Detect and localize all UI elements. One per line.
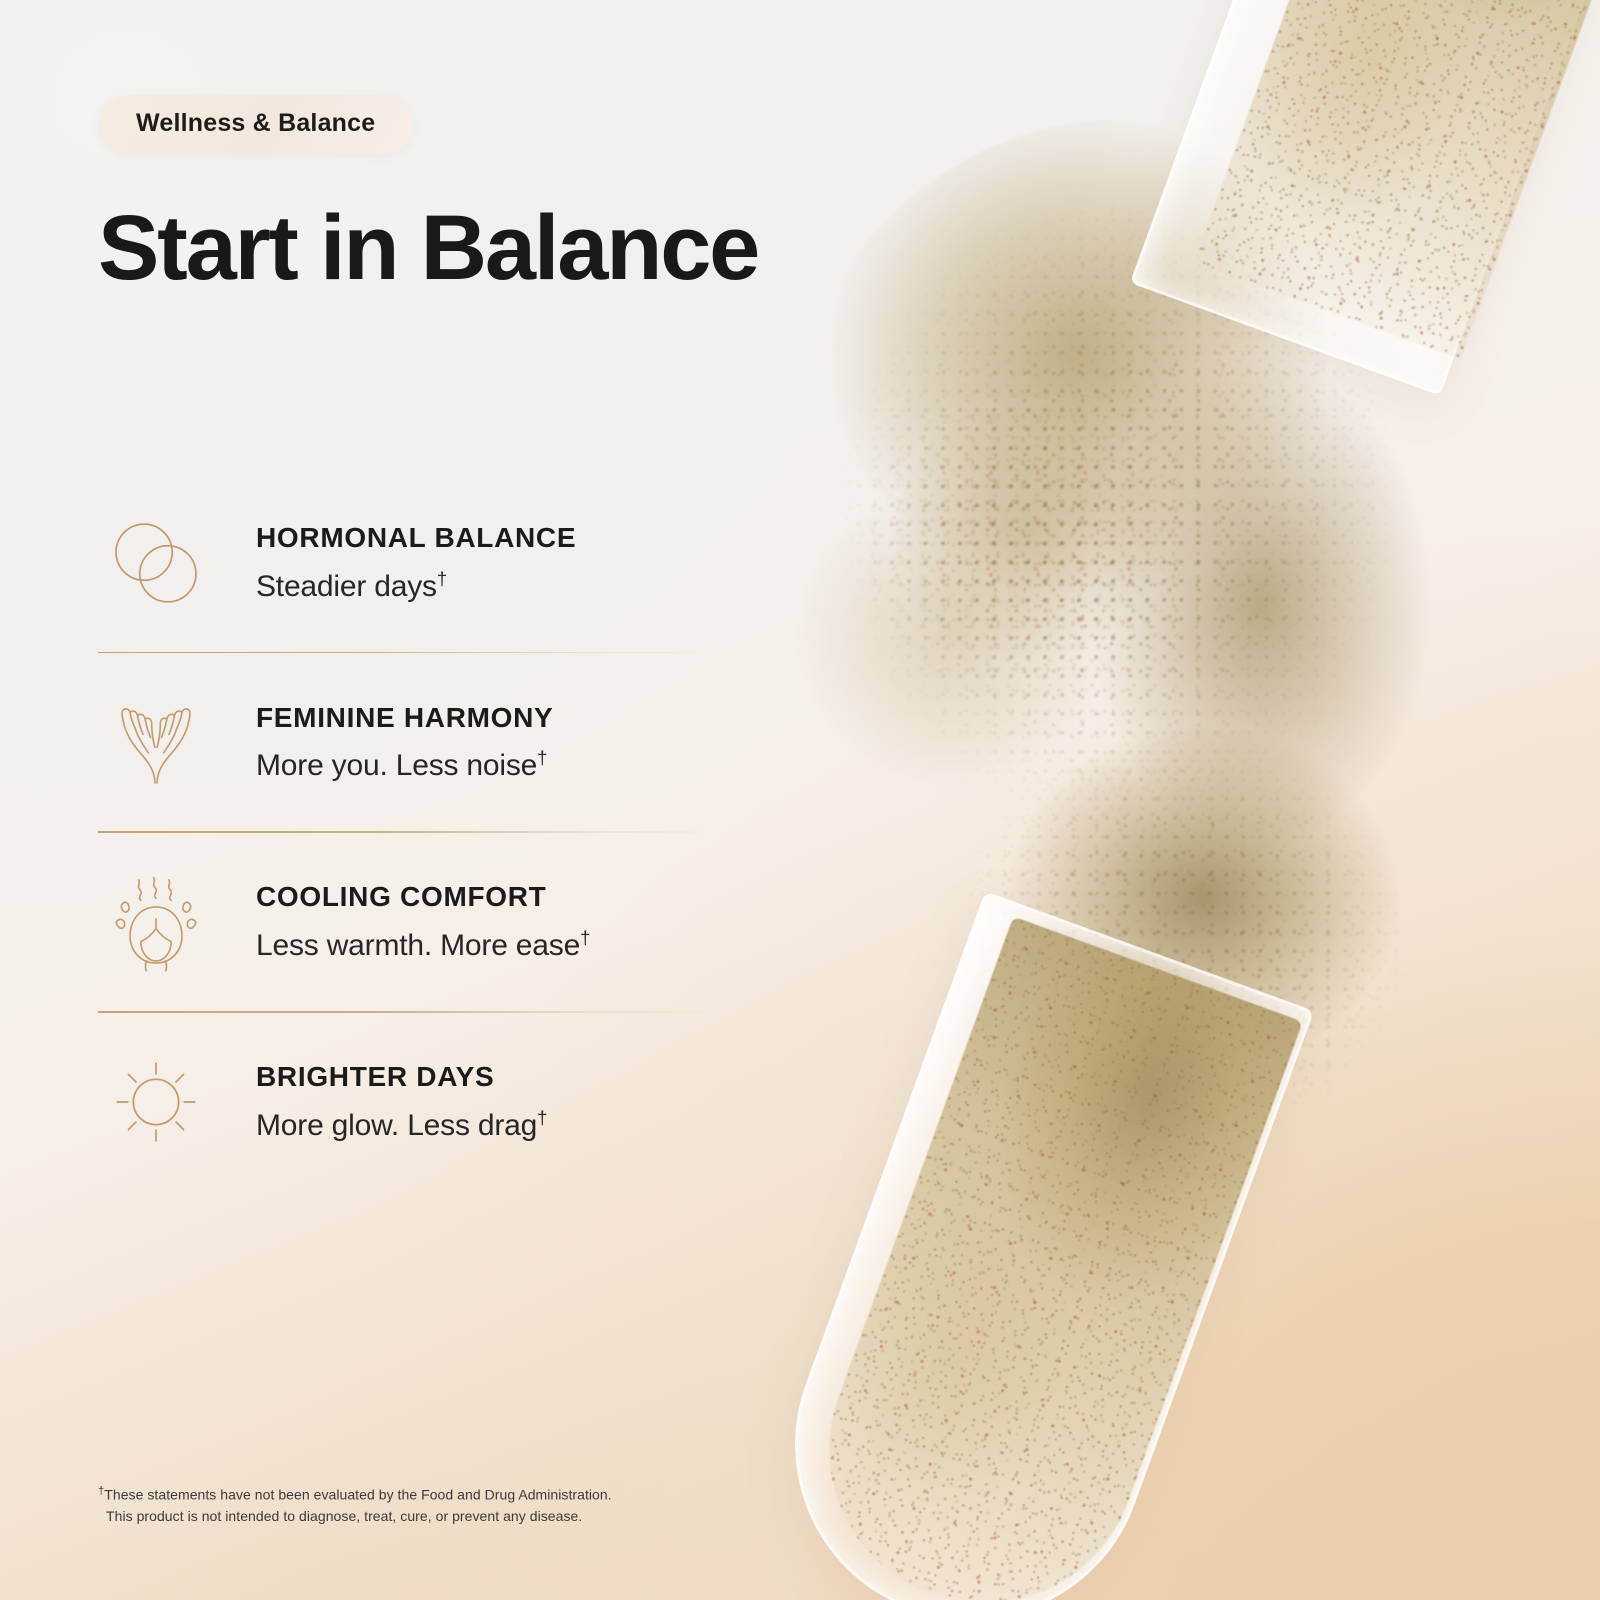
capsule-top-half bbox=[1130, 0, 1600, 396]
dagger-symbol: † bbox=[580, 927, 590, 948]
feature-subtitle-text: More glow. Less drag bbox=[256, 1109, 537, 1142]
feature-item-hormonal-balance: HORMONAL BALANCE Steadier days† bbox=[98, 474, 718, 652]
cupped-hands-icon bbox=[98, 684, 214, 800]
sun-icon bbox=[98, 1044, 214, 1160]
feature-text: FEMININE HARMONY More you. Less noise† bbox=[256, 701, 553, 785]
powder-grain-texture bbox=[820, 330, 1240, 750]
feature-subtitle: Less warmth. More ease† bbox=[256, 927, 590, 964]
feature-subtitle-text: Less warmth. More ease bbox=[256, 929, 580, 962]
capsule-powder-fill bbox=[1194, 0, 1600, 359]
feature-list: HORMONAL BALANCE Steadier days† bbox=[98, 474, 718, 1191]
feature-title: FEMININE HARMONY bbox=[256, 703, 553, 734]
promo-canvas: Wellness & Balance Start in Balance HORM… bbox=[0, 0, 1600, 1600]
capsule-powder-fill bbox=[786, 916, 1303, 1600]
feature-text: COOLING COMFORT Less warmth. More ease† bbox=[256, 880, 590, 964]
feature-title: BRIGHTER DAYS bbox=[256, 1062, 547, 1093]
feature-text: HORMONAL BALANCE Steadier days† bbox=[256, 521, 576, 605]
feature-subtitle-text: More you. Less noise bbox=[256, 749, 537, 782]
feature-subtitle: Steadier days† bbox=[256, 568, 576, 605]
feature-subtitle: More glow. Less drag† bbox=[256, 1107, 547, 1144]
powder-grain-texture bbox=[786, 916, 1303, 1600]
overlapping-circles-icon bbox=[98, 505, 214, 621]
powder-cloud-upper bbox=[770, 120, 1470, 900]
feature-subtitle: More you. Less noise† bbox=[256, 747, 553, 784]
feature-title: COOLING COMFORT bbox=[256, 882, 590, 913]
feature-text: BRIGHTER DAYS More glow. Less drag† bbox=[256, 1060, 547, 1144]
feature-item-brighter-days: BRIGHTER DAYS More glow. Less drag† bbox=[98, 1013, 718, 1191]
dagger-symbol: † bbox=[437, 568, 447, 589]
legal-footnote: †These statements have not been evaluate… bbox=[98, 1483, 612, 1528]
feature-subtitle-text: Steadier days bbox=[256, 570, 437, 603]
feature-item-cooling-comfort: COOLING COMFORT Less warmth. More ease† bbox=[98, 833, 718, 1011]
powder-grain-texture bbox=[900, 680, 1460, 1200]
cooling-head-icon bbox=[98, 864, 214, 980]
feature-item-feminine-harmony: FEMININE HARMONY More you. Less noise† bbox=[98, 653, 718, 831]
footnote-line-2: This product is not intended to diagnose… bbox=[98, 1506, 612, 1528]
powder-cloud-lower bbox=[900, 680, 1460, 1200]
page-title: Start in Balance bbox=[98, 202, 858, 296]
powder-cloud-middle bbox=[820, 330, 1240, 750]
content-column: Wellness & Balance Start in Balance HORM… bbox=[0, 0, 858, 1191]
footnote-line-1: These statements have not been evaluated… bbox=[104, 1487, 611, 1503]
eyebrow-badge: Wellness & Balance bbox=[98, 95, 413, 154]
powder-grain-texture bbox=[1194, 0, 1600, 359]
dagger-symbol: † bbox=[537, 747, 547, 768]
dagger-symbol: † bbox=[537, 1107, 547, 1128]
powder-grain-texture bbox=[770, 120, 1470, 900]
feature-title: HORMONAL BALANCE bbox=[256, 523, 576, 554]
